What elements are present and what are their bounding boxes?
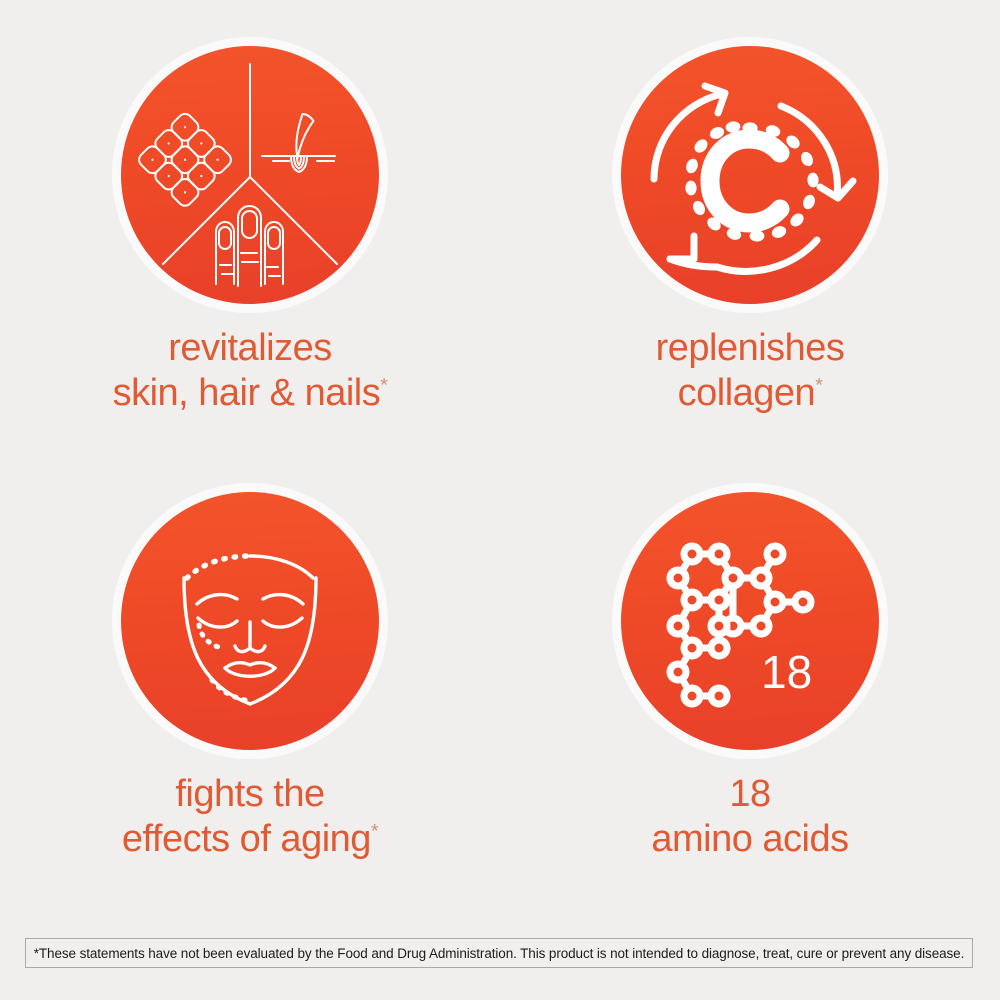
caption-line-1: revitalizes xyxy=(113,326,388,371)
skin-hair-nails-icon xyxy=(121,46,379,304)
skin-cells-glyph xyxy=(136,111,234,209)
benefits-grid: revitalizes skin, hair & nails* xyxy=(0,0,1000,925)
benefit-card-amino-acids: 18 18 amino acids xyxy=(500,450,1000,900)
divider-lines xyxy=(163,64,337,264)
eyebrows-glyph xyxy=(197,595,303,604)
asterisk-marker: * xyxy=(371,820,378,842)
amino-acid-molecule-icon: 18 xyxy=(621,492,879,750)
benefit-caption: fights the effects of aging* xyxy=(122,772,378,862)
caption-line-2: collagen* xyxy=(656,371,845,416)
benefit-caption: 18 amino acids xyxy=(651,772,848,862)
caption-line-2: effects of aging* xyxy=(122,817,378,862)
caption-line-2: skin, hair & nails* xyxy=(113,371,388,416)
benefit-caption: revitalizes skin, hair & nails* xyxy=(113,326,388,416)
disclaimer-text: *These statements have not been evaluate… xyxy=(34,946,964,961)
caption-line-2-text: effects of aging xyxy=(122,818,371,860)
caption-line-1: 18 xyxy=(651,772,848,817)
letter-c-glyph xyxy=(710,139,780,223)
benefit-card-collagen: replenishes collagen* xyxy=(500,0,1000,450)
nose-glyph xyxy=(235,622,265,652)
caption-line-2-text: amino acids xyxy=(651,818,848,860)
caption-line-2-text: skin, hair & nails xyxy=(113,372,381,414)
collagen-cycle-icon xyxy=(621,46,879,304)
face-aging-icon xyxy=(121,492,379,750)
benefit-card-skin-hair-nails: revitalizes skin, hair & nails* xyxy=(0,0,500,450)
asterisk-marker: * xyxy=(380,374,387,396)
cycle-arrows-glyph xyxy=(654,86,853,271)
caption-line-2-text: collagen xyxy=(678,372,816,414)
benefit-card-aging: fights the effects of aging* xyxy=(0,450,500,900)
caption-line-1: fights the xyxy=(122,772,378,817)
benefit-caption: replenishes collagen* xyxy=(656,326,845,416)
asterisk-marker: * xyxy=(815,374,822,396)
lips-glyph xyxy=(225,663,275,677)
caption-line-1: replenishes xyxy=(656,326,845,371)
fingernails-glyph xyxy=(216,206,283,286)
caption-line-2: amino acids xyxy=(651,817,848,862)
molecule-badge-number: 18 xyxy=(761,646,812,698)
hairline-solid xyxy=(250,556,313,578)
hair-follicle-glyph xyxy=(262,114,335,172)
disclaimer-bar: *These statements have not been evaluate… xyxy=(25,938,973,968)
hairline-dotted xyxy=(187,556,250,578)
